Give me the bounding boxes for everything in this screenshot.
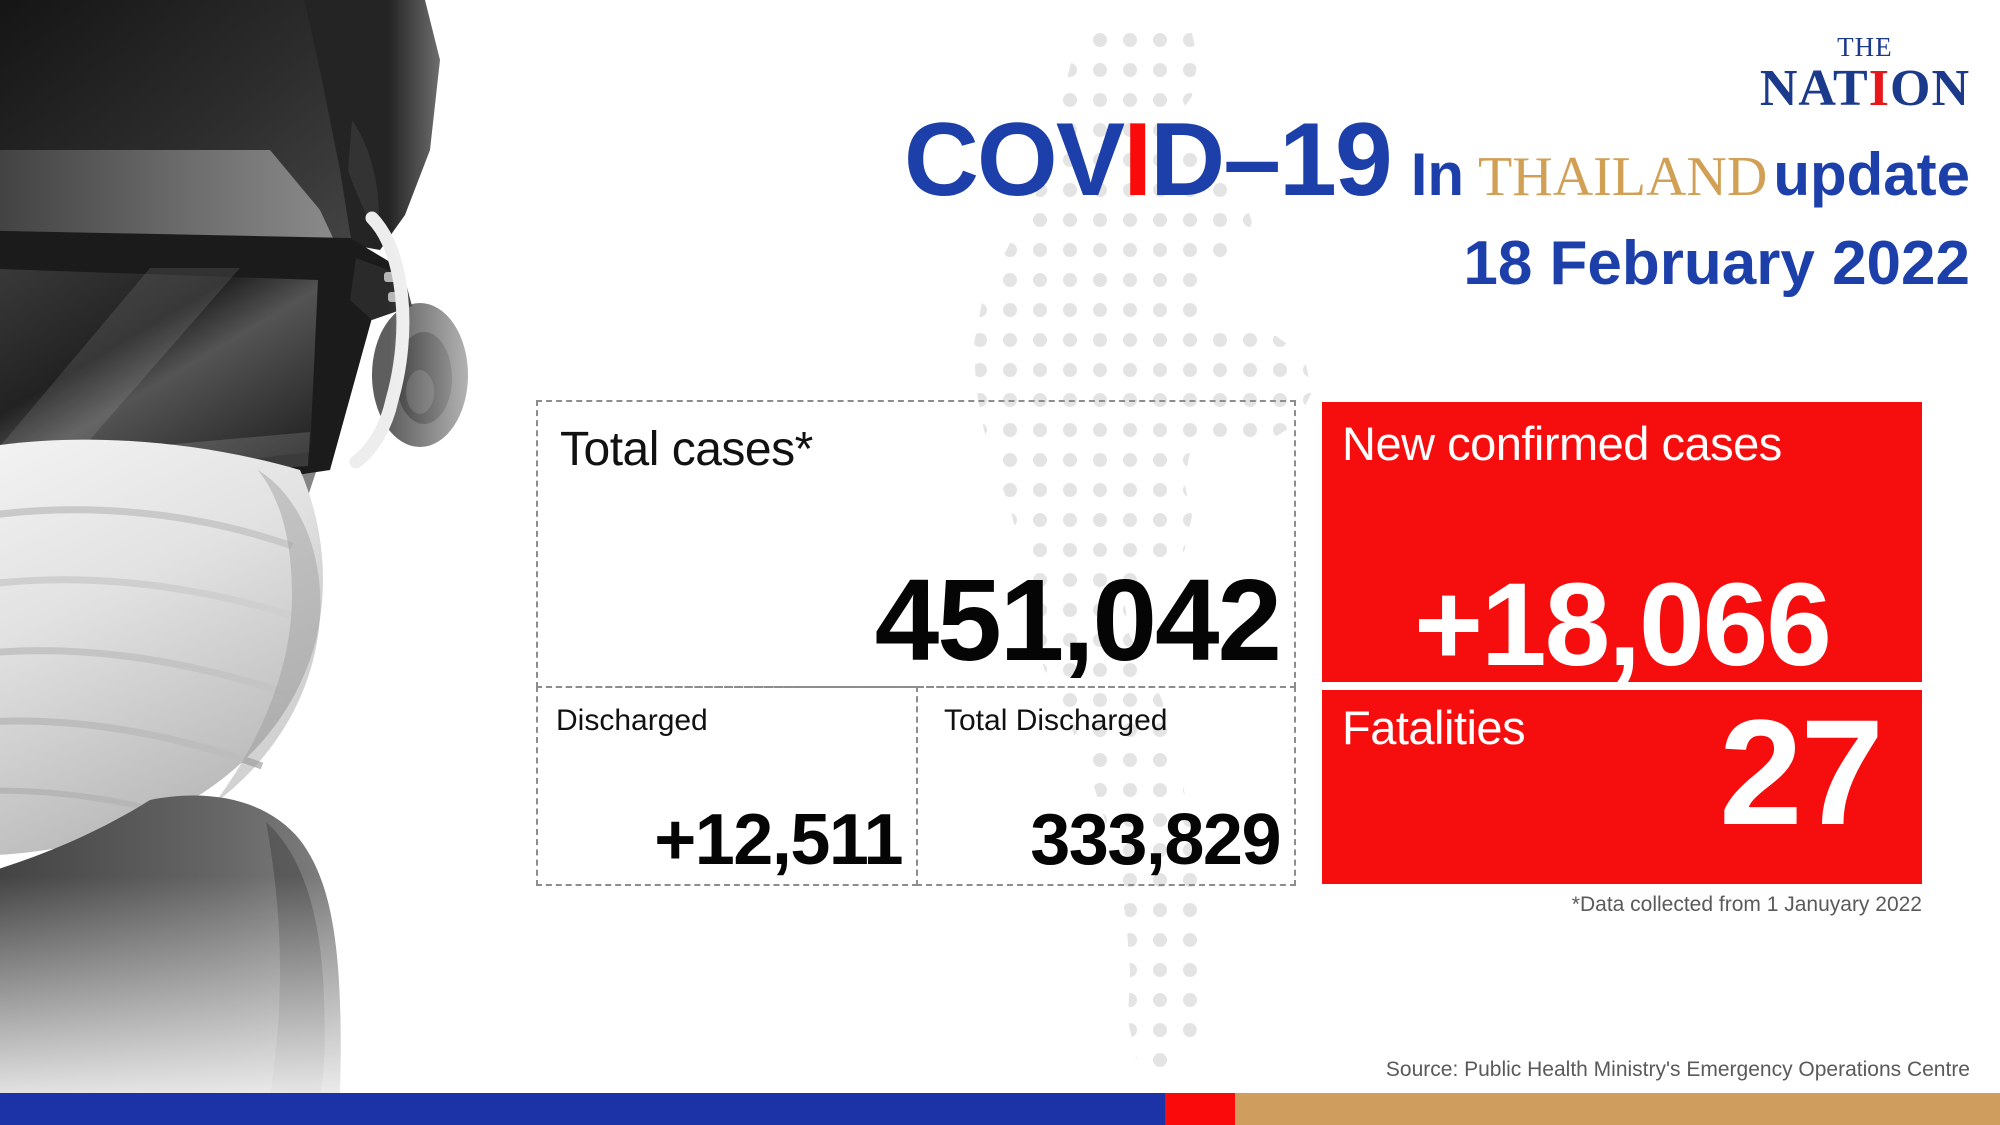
new-confirmed-cases-value: +18,066 xyxy=(1336,564,1908,688)
total-cases-value: 451,042 xyxy=(875,562,1280,678)
discharged-value: +12,511 xyxy=(654,804,902,876)
source-credit: Source: Public Health Ministry's Emergen… xyxy=(1386,1058,1970,1082)
masked-person-photo xyxy=(0,0,540,1095)
headline-update-word: update xyxy=(1773,141,1970,208)
total-cases-card: Total cases* 451,042 xyxy=(536,400,1296,688)
new-confirmed-cases-label: New confirmed cases xyxy=(1342,416,1782,471)
total-discharged-value: 333,829 xyxy=(1030,804,1280,876)
bottom-bar-gold-segment xyxy=(1235,1093,2000,1125)
the-nation-logo: THE NATION xyxy=(1760,34,1970,115)
covid-before: COV xyxy=(904,102,1123,218)
bottom-bar-red-segment xyxy=(1165,1093,1235,1125)
logo-nation-after: ON xyxy=(1890,60,1970,117)
bottom-color-bar xyxy=(0,1093,2000,1125)
covid-wordmark: COVID–19 xyxy=(904,102,1391,218)
discharged-card: Discharged +12,511 xyxy=(536,686,918,886)
headline-country: THAILAND xyxy=(1478,146,1767,208)
fatalities-label: Fatalities xyxy=(1342,700,1525,755)
logo-nation-accent-i: I xyxy=(1869,60,1890,117)
bottom-bar-blue-segment xyxy=(0,1093,1165,1125)
page-title: COVID–19InTHAILANDupdate xyxy=(540,108,1970,212)
discharged-label: Discharged xyxy=(556,704,708,738)
total-discharged-label: Total Discharged xyxy=(944,704,1167,738)
new-confirmed-cases-card: New confirmed cases +18,066 xyxy=(1322,402,1922,682)
logo-the-text: THE xyxy=(1760,34,1970,61)
headline-in-word: In xyxy=(1411,141,1464,208)
logo-nation-before: NAT xyxy=(1760,60,1869,117)
data-collection-footnote: *Data collected from 1 Januyary 2022 xyxy=(1572,893,1922,917)
total-cases-label: Total cases* xyxy=(560,422,813,477)
logo-nation-text: NATION xyxy=(1760,63,1970,115)
covid-after: D–19 xyxy=(1150,102,1391,218)
total-discharged-card: Total Discharged 333,829 xyxy=(916,686,1296,886)
fatalities-value: 27 xyxy=(1719,686,1882,859)
covid-accent-i: I xyxy=(1123,102,1150,218)
report-date: 18 February 2022 xyxy=(540,228,1970,299)
fatalities-card: Fatalities 27 xyxy=(1322,690,1922,884)
discharged-row: Discharged +12,511 Total Discharged 333,… xyxy=(536,686,1296,886)
